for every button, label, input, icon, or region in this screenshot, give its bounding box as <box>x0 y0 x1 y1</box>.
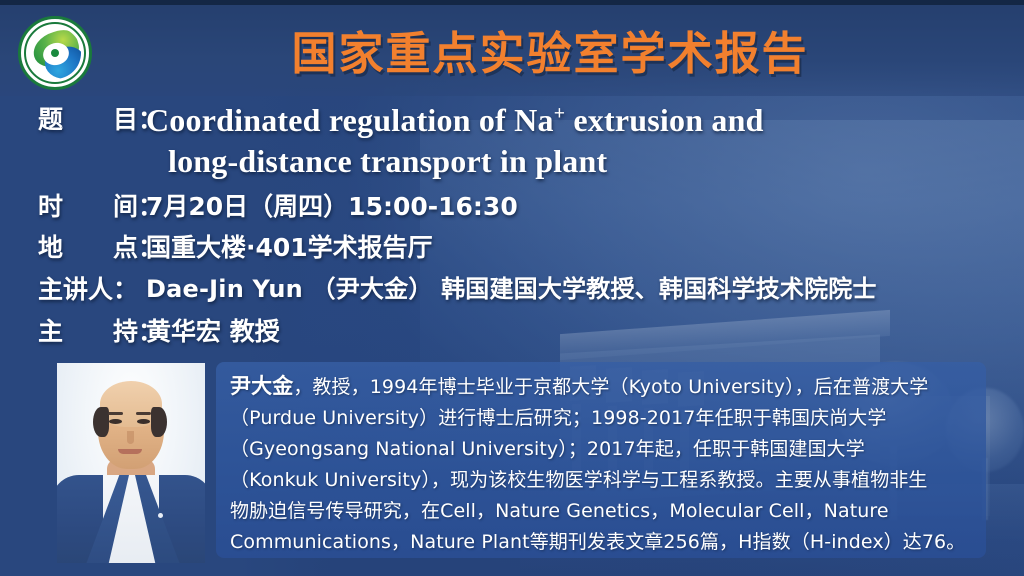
info-row-speaker: 主讲人： Dae-Jin Yun （尹大金） 韩国建国大学教授、韩国科学技术院院… <box>38 274 998 306</box>
info-row-place: 地 点： 国重大楼·401学术报告厅 <box>38 232 998 264</box>
info-label-host: 主 持： <box>38 316 146 348</box>
topic-line1-post: extrusion and <box>565 102 763 138</box>
info-label-speaker: 主讲人： <box>38 274 146 306</box>
topic-line2: long-distance transport in plant <box>146 141 998 182</box>
info-value-topic: Coordinated regulation of Na+ extrusion … <box>146 100 998 182</box>
topic-line1-pre: Coordinated regulation of Na <box>146 102 554 138</box>
info-label-topic: 题 目： <box>38 100 146 136</box>
info-value-host: 黄华宏 教授 <box>146 316 998 348</box>
info-row-host: 主 持： 黄华宏 教授 <box>38 316 998 348</box>
seminar-poster: 国家重点实验室学术报告 题 目： Coordinated regulation … <box>0 0 1024 576</box>
info-value-place: 国重大楼·401学术报告厅 <box>146 232 998 264</box>
info-value-speaker: Dae-Jin Yun （尹大金） 韩国建国大学教授、韩国科学技术院院士 <box>146 274 998 305</box>
seminar-info-list: 题 目： Coordinated regulation of Na+ extru… <box>38 96 998 348</box>
bio-line-6: Communications，Nature Plant等期刊发表文章256篇，H… <box>230 527 974 558</box>
bio-speaker-name: 尹大金 <box>230 374 293 398</box>
bio-line-2: （Purdue University）进行博士后研究；1998-2017年任职于… <box>230 403 974 434</box>
bio-line-3: （Gyeongsang National University）；2017年起，… <box>230 434 974 465</box>
info-row-topic: 题 目： Coordinated regulation of Na+ extru… <box>38 100 998 182</box>
bio-line-5: 物胁迫信号传导研究，在Cell，Nature Genetics，Molecula… <box>230 496 974 527</box>
info-label-time: 时 间： <box>38 191 146 223</box>
background-top-rule <box>0 0 1024 5</box>
bio-line-1: 尹大金，教授，1994年博士毕业于京都大学（Kyoto University），… <box>230 371 974 403</box>
bio-line-1-rest: ，教授，1994年博士毕业于京都大学（Kyoto University），后在普… <box>293 376 928 398</box>
bio-line-4: （Konkuk University），现为该校生物医学科学与工程系教授。主要从… <box>230 465 974 496</box>
info-label-place: 地 点： <box>38 232 146 264</box>
speaker-biography-box: 尹大金，教授，1994年博士毕业于京都大学（Kyoto University），… <box>216 362 986 558</box>
info-row-time: 时 间： 7月20日（周四）15:00-16:30 <box>38 191 998 223</box>
page-title: 国家重点实验室学术报告 <box>110 17 990 82</box>
laboratory-logo-icon <box>18 16 92 90</box>
info-value-time: 7月20日（周四）15:00-16:30 <box>146 191 998 223</box>
speaker-portrait-photo <box>57 363 205 563</box>
topic-superscript-plus: + <box>554 102 566 124</box>
